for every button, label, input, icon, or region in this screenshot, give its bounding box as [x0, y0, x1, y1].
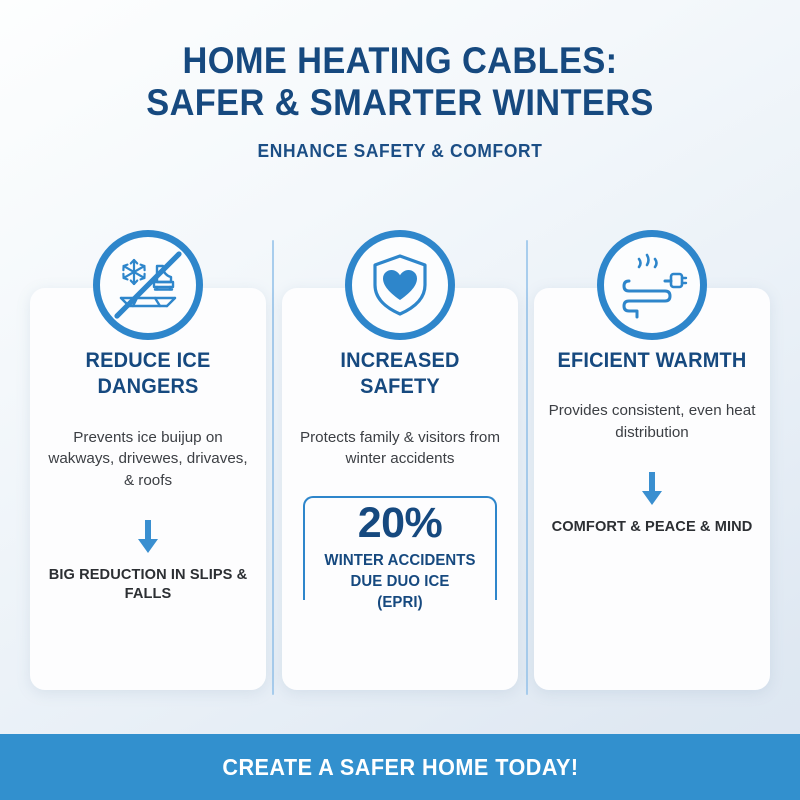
no-ice-slip-icon: [93, 230, 203, 340]
feature-columns: REDUCE ICE DANGERS Prevents ice buijup o…: [0, 230, 800, 700]
feature-outcome: COMFORT & PEACE & MIND: [546, 518, 758, 538]
infographic-poster: HOME HEATING CABLES: SAFER & SMARTER WIN…: [0, 0, 800, 800]
feature-column-increased-safety: INCREASED SAFETY Protects family & visit…: [274, 230, 526, 700]
shield-heart-icon: [345, 230, 455, 340]
feature-description: Protects family & visitors from winter a…: [296, 427, 504, 470]
page-title-line-2: SAFER & SMARTER WINTERS: [28, 82, 772, 124]
down-arrow-icon: [136, 520, 160, 554]
feature-title: REDUCE ICE DANGERS: [46, 348, 249, 401]
down-arrow-icon: [640, 472, 664, 506]
page-subtitle: ENHANCE SAFETY & COMFORT: [24, 140, 776, 162]
feature-card-body: INCREASED SAFETY Protects family & visit…: [274, 348, 526, 626]
feature-card-body: EFICIENT WARMTH Provides consistent, eve…: [526, 348, 778, 537]
heating-cable-icon: [597, 230, 707, 340]
page-title-line-1: HOME HEATING CABLES:: [182, 40, 617, 81]
feature-outcome: BIG REDUCTION IN SLIPS & FALLS: [42, 566, 254, 605]
feature-title: EFICIENT WARMTH: [550, 348, 753, 374]
statistic-label-line-3: (EPRI): [296, 593, 504, 614]
statistic-label-line-1: WINTER ACCIDENTS: [296, 551, 504, 572]
feature-card-body: REDUCE ICE DANGERS Prevents ice buijup o…: [22, 348, 274, 605]
statistic-label-line-2: DUE DUO ICE: [296, 572, 504, 593]
feature-column-eficient-warmth: EFICIENT WARMTH Provides consistent, eve…: [526, 230, 778, 700]
statistic-block: 20% WINTER ACCIDENTS DUE DUO ICE (EPRI): [293, 496, 507, 626]
statistic-label: WINTER ACCIDENTS DUE DUO ICE (EPRI): [296, 551, 504, 614]
header: HOME HEATING CABLES: SAFER & SMARTER WIN…: [0, 0, 800, 162]
feature-title: INCREASED SAFETY: [298, 348, 501, 401]
feature-column-reduce-ice-dangers: REDUCE ICE DANGERS Prevents ice buijup o…: [22, 230, 274, 700]
footer-cta-text: CREATE A SAFER HOME TODAY!: [222, 754, 578, 781]
feature-description: Prevents ice buijup on wakways, drivewes…: [44, 427, 252, 492]
statistic-number: 20%: [293, 496, 507, 545]
footer-cta-banner[interactable]: CREATE A SAFER HOME TODAY!: [0, 734, 800, 800]
feature-description: Provides consistent, even heat distribut…: [548, 400, 756, 443]
page-title: HOME HEATING CABLES: SAFER & SMARTER WIN…: [28, 40, 772, 124]
